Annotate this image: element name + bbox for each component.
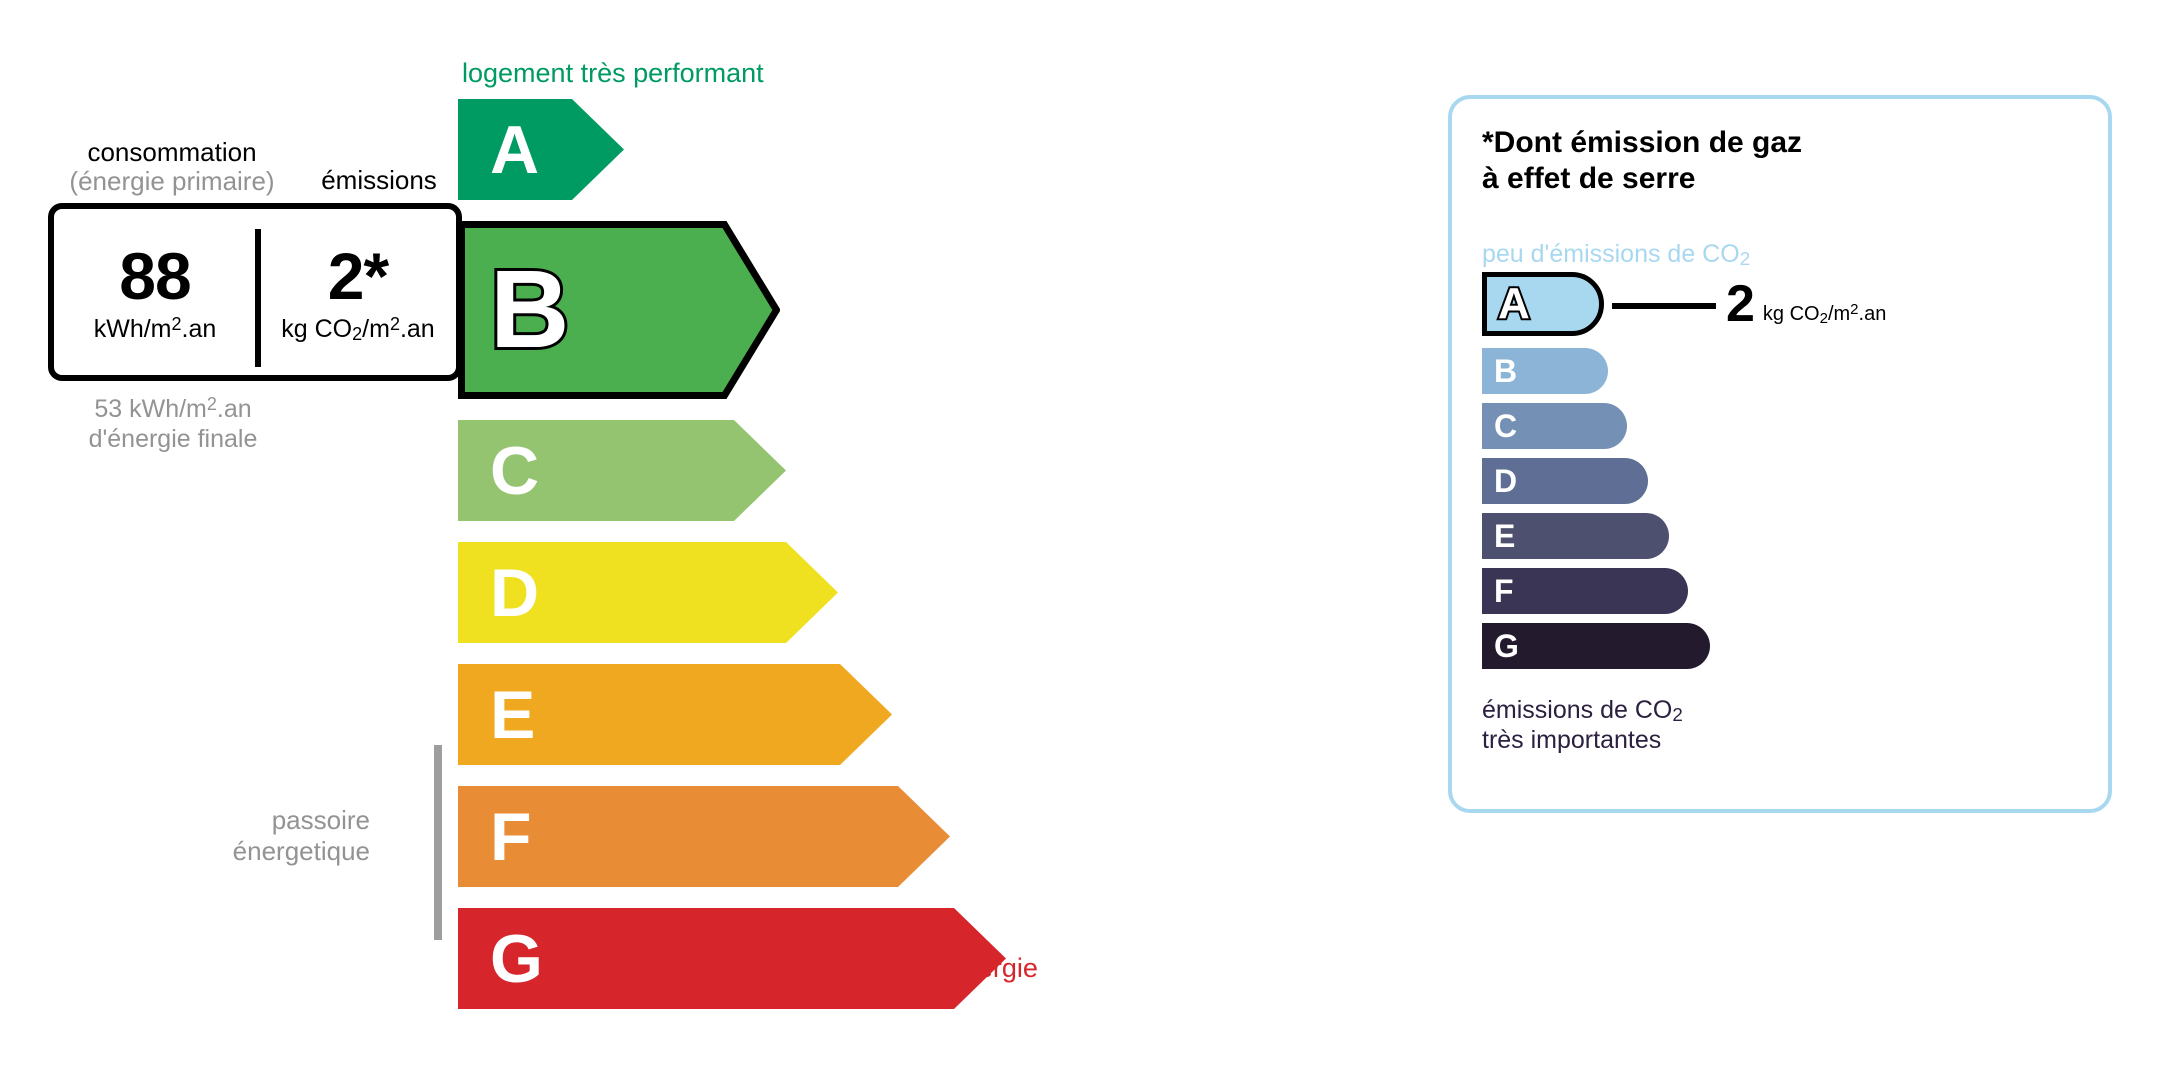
energy-grade-arrow-f	[458, 786, 950, 887]
consumption-sublabel: (énergie primaire)	[48, 167, 296, 196]
co2-grade-row-e: E	[1482, 513, 2082, 559]
consumption-label: consommation	[87, 137, 256, 167]
final-energy-label: d'énergie finale	[48, 425, 298, 455]
co2-grade-letter-c: C	[1494, 410, 1517, 442]
energy-grade-letter-f: F	[490, 803, 532, 871]
energy-grade-letter-e: E	[490, 681, 535, 749]
energy-grade-ladder: ABCDEFG	[458, 99, 1258, 944]
energy-grade-row-e: E	[458, 664, 892, 765]
final-energy-value: 53 kWh/m2.an	[48, 395, 298, 425]
co2-grade-row-a: A2kg CO2/m2.an	[1482, 272, 2082, 336]
consumption-header: consommation (énergie primaire)	[48, 138, 296, 196]
energy-grade-arrow-a	[458, 99, 624, 200]
emissions-unit: kg CO2/m2.an	[281, 317, 434, 342]
co2-grade-ladder: A2kg CO2/m2.anBCDEFG	[1482, 272, 2082, 678]
co2-grade-row-c: C	[1482, 403, 2082, 449]
co2-grade-row-f: F	[1482, 568, 2082, 614]
passoire-energetique-label: passoire énergetique	[170, 805, 370, 866]
co2-grade-letter-b: B	[1494, 355, 1517, 387]
energy-grade-row-c: C	[458, 420, 786, 521]
consumption-value: 88	[119, 243, 190, 309]
co2-grade-row-d: D	[1482, 458, 2082, 504]
co2-title-line-2: à effet de serre	[1482, 161, 1802, 197]
emissions-value: 2*	[328, 243, 388, 309]
co2-grade-letter-e: E	[1494, 520, 1515, 552]
energy-grade-letter-g: G	[490, 925, 543, 993]
energy-grade-letter-a: A	[490, 116, 539, 184]
co2-grade-letter-d: D	[1494, 465, 1517, 497]
co2-emissions-panel: *Dont émission de gaz à effet de serre p…	[1448, 95, 2112, 813]
co2-value-number: 2	[1726, 278, 1755, 330]
co2-bottom-line-1: émissions de CO2	[1482, 696, 1683, 726]
consumption-unit: kWh/m2.an	[94, 317, 217, 342]
energy-grade-letter-b: B	[490, 255, 569, 365]
emissions-label: émissions	[321, 165, 437, 195]
energy-grade-row-a: A	[458, 99, 624, 200]
co2-grade-letter-f: F	[1494, 575, 1514, 607]
co2-grade-row-b: B	[1482, 348, 2082, 394]
energy-grade-row-d: D	[458, 542, 838, 643]
co2-high-emissions-label: émissions de CO2 très importantes	[1482, 696, 1683, 755]
energy-grade-row-g: G	[458, 908, 1006, 1009]
co2-grade-letter-g: G	[1494, 630, 1519, 662]
co2-leader-line	[1612, 303, 1716, 309]
emissions-value-cell: 2* kg CO2/m2.an	[258, 209, 458, 375]
energy-grade-row-f: F	[458, 786, 950, 887]
energy-grade-letter-d: D	[490, 559, 539, 627]
co2-value-unit: kg CO2/m2.an	[1763, 304, 1886, 324]
co2-low-emissions-label: peu d'émissions de CO2	[1482, 240, 1750, 269]
emissions-header: émissions	[296, 165, 462, 196]
co2-grade-letter-a: A	[1498, 282, 1530, 326]
passoire-bracket	[434, 745, 442, 940]
passoire-line-2: énergetique	[170, 836, 370, 867]
co2-bottom-line-2: très importantes	[1482, 726, 1683, 756]
energy-grade-letter-c: C	[490, 437, 539, 505]
co2-grade-row-g: G	[1482, 623, 2082, 669]
passoire-line-1: passoire	[170, 805, 370, 836]
consumption-value-cell: 88 kWh/m2.an	[54, 209, 256, 375]
co2-panel-title: *Dont émission de gaz à effet de serre	[1482, 125, 1802, 197]
energy-grade-row-b: B	[458, 221, 780, 399]
co2-value-annotation: 2kg CO2/m2.an	[1726, 272, 1886, 336]
value-box: 88 kWh/m2.an 2* kg CO2/m2.an	[48, 203, 462, 381]
final-energy-note: 53 kWh/m2.an d'énergie finale	[48, 395, 298, 454]
caption-very-efficient: logement très performant	[462, 58, 764, 89]
energy-performance-diagram: consommation (énergie primaire) émission…	[0, 0, 1400, 1079]
co2-title-line-1: *Dont émission de gaz	[1482, 125, 1802, 161]
